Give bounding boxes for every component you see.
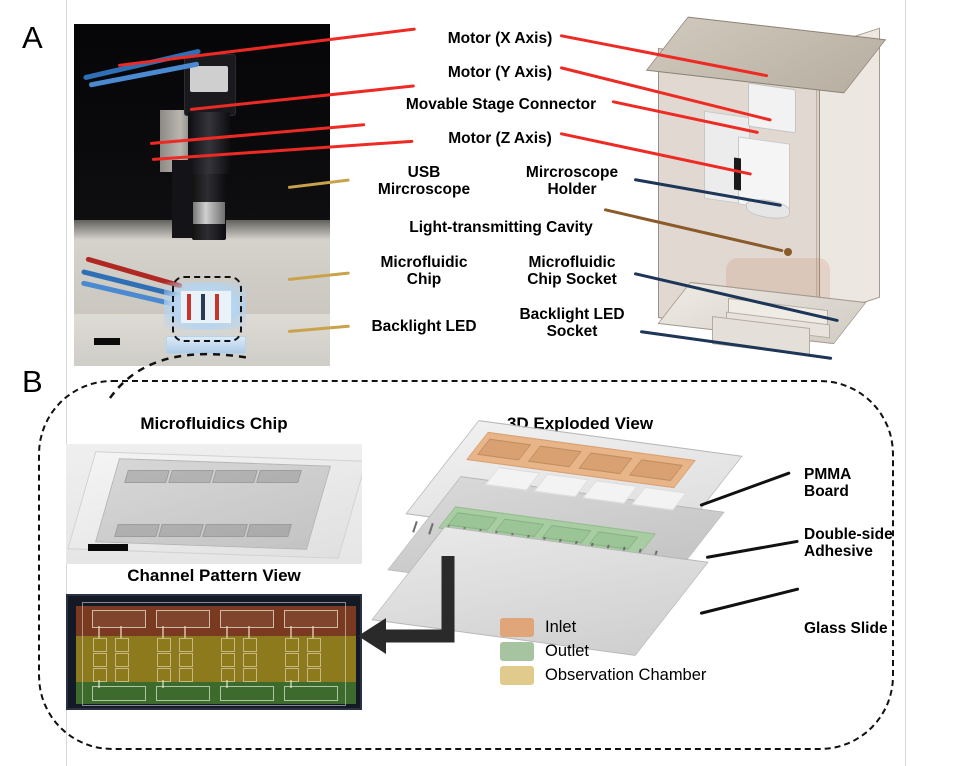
channel-chamber xyxy=(285,653,299,667)
channel-chamber xyxy=(157,638,171,652)
chip-photo-well xyxy=(124,470,170,483)
label-pmma-board: PMMA Board xyxy=(804,466,851,500)
channel-chamber xyxy=(179,653,193,667)
channel-chamber xyxy=(307,638,321,652)
label-pmma-board-line2: Board xyxy=(804,483,851,500)
render-motor-y xyxy=(748,83,796,134)
label-motor-y-axis: Motor (Y Axis) xyxy=(420,64,580,81)
legend-swatch-outlet xyxy=(500,642,534,661)
panel-b-letter: B xyxy=(22,366,43,397)
legend-row-outlet: Outlet xyxy=(500,642,706,661)
channel-outlet-port xyxy=(220,686,274,701)
channel-stem xyxy=(290,626,292,638)
legend-swatch-inlet xyxy=(500,618,534,637)
photo-motor-y xyxy=(188,112,230,174)
channel-stem xyxy=(248,626,250,638)
exploded-to-channel-arrow xyxy=(352,552,472,662)
channel-chamber xyxy=(285,638,299,652)
legend-label-inlet: Inlet xyxy=(545,618,576,637)
channel-chamber xyxy=(93,653,107,667)
title-channel-pattern-view: Channel Pattern View xyxy=(66,566,362,586)
label-pmma-board-line1: PMMA xyxy=(804,466,851,483)
label-light-transmitting-cavity: Light-transmitting Cavity xyxy=(378,219,624,236)
channel-chamber xyxy=(157,653,171,667)
label-microfluidic-chip-line2: Chip xyxy=(354,271,494,288)
label-backlight-led: Backlight LED xyxy=(350,318,498,335)
leader-cavity-endpoint xyxy=(784,248,792,256)
panel-a-letter: A xyxy=(22,22,43,53)
label-movable-stage-connector: Movable Stage Connector xyxy=(378,96,624,113)
chip-photo-well xyxy=(202,524,248,537)
channel-chamber xyxy=(115,653,129,667)
title-microfluidics-chip: Microfluidics Chip xyxy=(66,414,362,434)
channel-inlet-port xyxy=(92,610,146,628)
channel-chamber xyxy=(221,638,235,652)
render-holder-slot xyxy=(734,158,741,191)
label-microfluidic-chip-socket: Microfluidic Chip Socket xyxy=(496,254,648,288)
legend-swatch-observation-chamber xyxy=(500,666,534,685)
channel-chamber xyxy=(243,653,257,667)
channel-chamber xyxy=(243,638,257,652)
photo-z-column xyxy=(172,160,192,238)
channel-chamber xyxy=(157,668,171,682)
label-glass-slide: Glass Slide xyxy=(804,620,888,637)
channel-inlet-port xyxy=(284,610,338,628)
channel-chamber xyxy=(221,653,235,667)
label-backlight-led-socket: Backlight LED Socket xyxy=(494,306,650,340)
legend-label-outlet: Outlet xyxy=(545,642,589,661)
label-chip-socket-line1: Microfluidic xyxy=(496,254,648,271)
figure-root: A xyxy=(0,0,955,766)
channel-chamber xyxy=(93,668,107,682)
panel-b-connector-lines xyxy=(100,346,400,406)
chip-photo-scale-bar xyxy=(88,544,128,551)
legend-row-observation-chamber: Observation Chamber xyxy=(500,666,706,685)
channel-inlet-port xyxy=(220,610,274,628)
label-double-side-adhesive: Double-side Adhesive xyxy=(804,526,893,560)
chip-photo-well xyxy=(168,470,214,483)
channel-chamber xyxy=(307,668,321,682)
channel-stem xyxy=(312,626,314,638)
channel-chamber xyxy=(221,668,235,682)
panel-a: A xyxy=(0,0,955,370)
channel-stem xyxy=(98,626,100,638)
legend-row-inlet: Inlet xyxy=(500,618,706,637)
label-microscope-holder: Mircroscope Holder xyxy=(498,164,646,198)
instrument-photo xyxy=(74,24,330,366)
legend-label-observation-chamber: Observation Chamber xyxy=(545,666,706,685)
label-microfluidic-chip-line1: Microfluidic xyxy=(354,254,494,271)
channel-chamber xyxy=(115,668,129,682)
label-led-socket-line2: Socket xyxy=(494,323,650,340)
enclosure-3d-render xyxy=(648,22,904,370)
label-microfluidic-chip: Microfluidic Chip xyxy=(354,254,494,288)
channel-pattern-diagram xyxy=(66,594,362,710)
label-motor-z-axis: Motor (Z Axis) xyxy=(420,130,580,147)
channel-stem xyxy=(184,626,186,638)
channel-chamber xyxy=(307,653,321,667)
label-usb-microscope: USB Mircroscope xyxy=(354,164,494,198)
channel-chamber xyxy=(179,668,193,682)
label-usb-microscope-line2: Mircroscope xyxy=(354,181,494,198)
photo-chip-callout-ring xyxy=(172,276,242,342)
chip-photo-well xyxy=(158,524,204,537)
label-adhesive-line2: Adhesive xyxy=(804,543,893,560)
channel-chamber xyxy=(93,638,107,652)
channel-inlet-port xyxy=(156,610,210,628)
label-motor-x-axis: Motor (X Axis) xyxy=(420,30,580,47)
chip-photo-well xyxy=(256,470,302,483)
label-chip-socket-line2: Chip Socket xyxy=(496,271,648,288)
exploded-legend: Inlet Outlet Observation Chamber xyxy=(500,618,706,690)
microfluidics-chip-photo xyxy=(66,444,362,564)
channel-stem xyxy=(162,626,164,638)
photo-motor-label xyxy=(190,66,228,92)
photo-scale-bar xyxy=(94,338,120,345)
photo-microscope-focus-ring xyxy=(193,202,225,224)
channel-chamber xyxy=(285,668,299,682)
label-microscope-holder-line2: Holder xyxy=(498,181,646,198)
panel-b: B Microfluidics Chip Channel Pattern Vie… xyxy=(0,366,955,766)
channel-outlet-port xyxy=(284,686,338,701)
channel-outlet-port xyxy=(92,686,146,701)
channel-chamber xyxy=(179,638,193,652)
channel-stem xyxy=(226,626,228,638)
label-glass-slide-line1: Glass Slide xyxy=(804,620,888,637)
chip-photo-well xyxy=(246,524,292,537)
chip-photo-well xyxy=(212,470,258,483)
label-usb-microscope-line1: USB xyxy=(354,164,494,181)
label-led-socket-line1: Backlight LED xyxy=(494,306,650,323)
channel-chamber xyxy=(243,668,257,682)
chip-photo-well xyxy=(114,524,160,537)
label-microscope-holder-line1: Mircroscope xyxy=(498,164,646,181)
channel-outlet-port xyxy=(156,686,210,701)
channel-stem xyxy=(120,626,122,638)
label-backlight-led-line1: Backlight LED xyxy=(350,318,498,335)
channel-chamber xyxy=(115,638,129,652)
label-adhesive-line1: Double-side xyxy=(804,526,893,543)
